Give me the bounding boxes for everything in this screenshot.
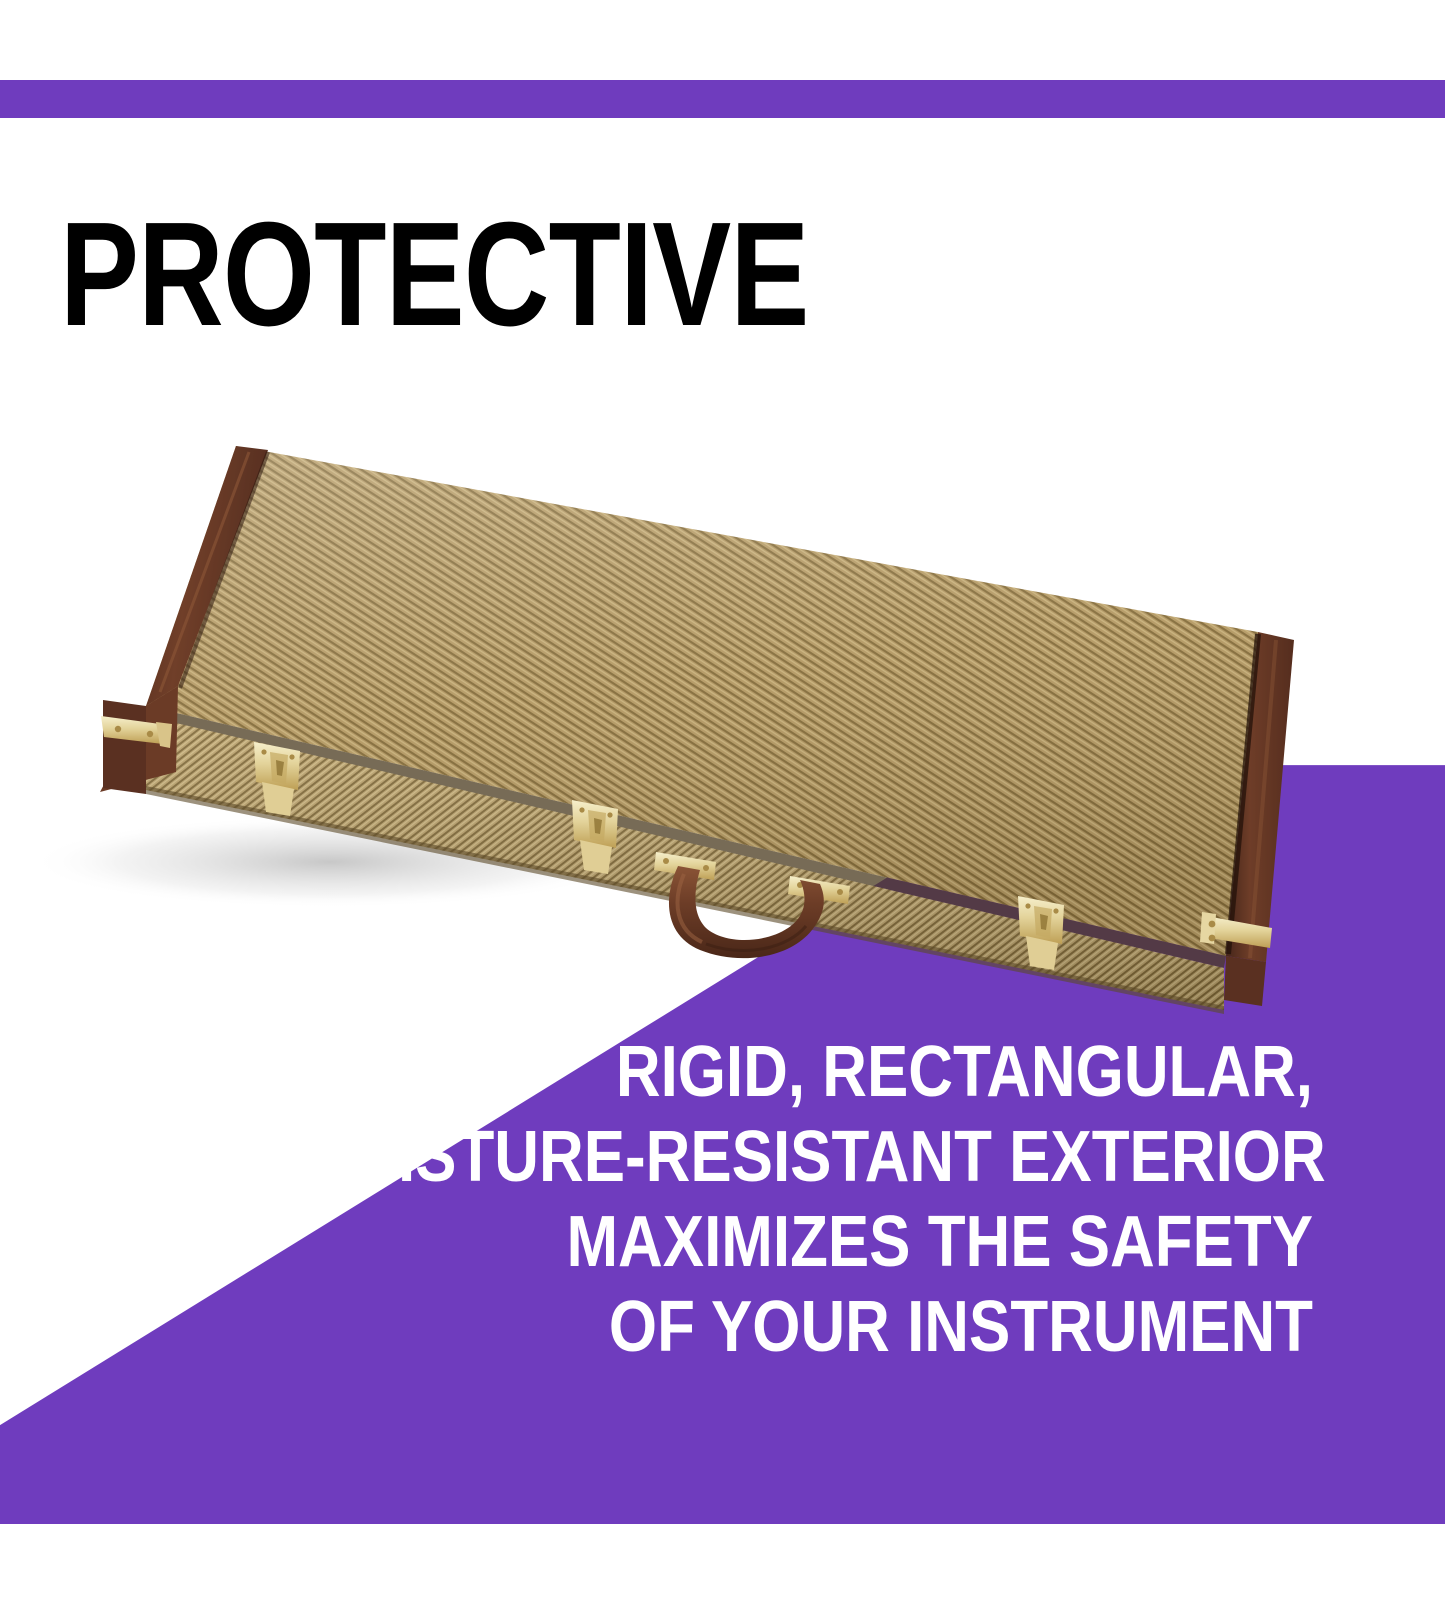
top-accent-bar [0,80,1445,118]
left-leather-fold-highlight [160,452,249,692]
left-leather-end-face [103,700,146,794]
left-leather-corner-front [100,686,178,792]
feature-line-1: RIGID, RECTANGULAR, [298,1030,1313,1115]
case-ground-shadow [30,816,630,908]
feature-line-3: MAXIMIZES THE SAFETY [298,1200,1313,1285]
feature-line-2: MOISTURE-RESISTANT EXTERIOR [298,1115,1313,1200]
left-leather-corner-top [146,446,268,706]
feature-description: RIGID, RECTANGULAR, MOISTURE-RESISTANT E… [133,1030,1313,1370]
handle-mount-left [654,852,716,880]
latch-left [254,742,300,816]
page-title: PROTECTIVE [60,204,809,346]
corner-bracket-left [101,716,172,748]
poster-canvas: PROTECTIVE RIGID, RECTANGULAR, MOISTURE-… [0,0,1445,1605]
feature-line-4: OF YOUR INSTRUMENT [298,1285,1313,1370]
handle-mount-right [788,876,850,904]
left-leather-edge-dark [180,452,268,688]
latch-center [572,800,618,874]
